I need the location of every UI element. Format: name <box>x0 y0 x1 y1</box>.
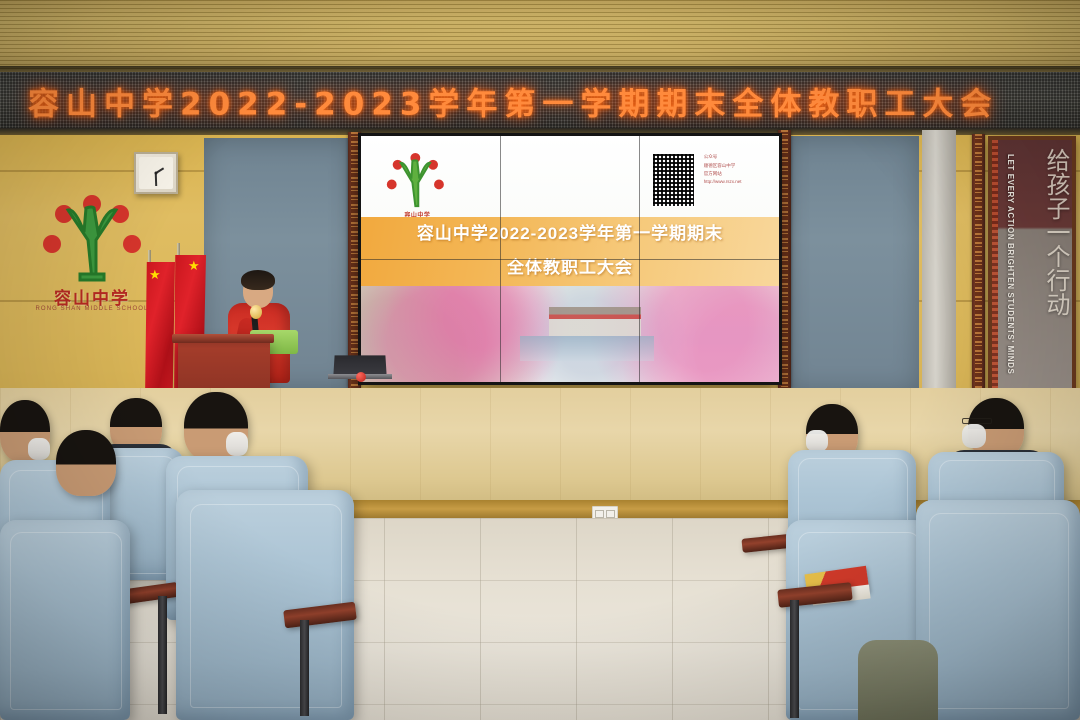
qr-caption: 公众号 顺德区容山中学 官方网站 http://www.rszx.net <box>704 153 763 186</box>
red-ball-object <box>356 372 366 382</box>
glasses-icon <box>962 418 992 424</box>
qr-code-icon <box>652 153 696 207</box>
flag-star-icon: ★ <box>188 259 200 272</box>
flag-star-icon: ★ <box>149 268 161 281</box>
ceiling-slats <box>0 0 1080 72</box>
screen-school-logo-icon <box>384 151 447 210</box>
seat-leg <box>790 600 799 718</box>
acoustic-panel-right <box>784 136 919 392</box>
screen-title-band: 容山中学2022-2023学年第一学期期末 全体教职工大会 <box>361 217 779 286</box>
auditorium-seat[interactable] <box>916 500 1080 720</box>
screen-campus-photo <box>361 286 779 382</box>
calligraphy-chinese: 给孩子一个行动 <box>1043 148 1068 404</box>
videowall-seam <box>361 259 779 260</box>
face-mask <box>962 424 986 448</box>
qr-caption-line: 公众号 <box>704 153 763 161</box>
school-tree-icon <box>28 188 156 288</box>
decorative-trim-right <box>972 134 985 412</box>
attendee-leg <box>858 640 938 720</box>
calligraphy-scroll: 给孩子一个行动 LET EVERY ACTION BRIGHTEN STUDEN… <box>988 136 1076 416</box>
scroll-border-pattern <box>992 140 998 412</box>
podium-top <box>172 334 274 343</box>
qr-caption-line: 顺德区容山中学 <box>704 162 763 170</box>
calligraphy-english: LET EVERY ACTION BRIGHTEN STUDENTS' MIND… <box>999 154 1015 394</box>
face-mask <box>28 438 50 460</box>
microphone-icon <box>250 305 262 319</box>
qr-caption-line: 官方网站 <box>704 170 763 178</box>
seat-leg <box>158 596 167 714</box>
screen-title-line1: 容山中学2022-2023学年第一学期期末 <box>361 223 779 246</box>
speaker-hair <box>241 270 275 290</box>
face-mask <box>226 432 248 456</box>
clock-center <box>155 172 158 175</box>
led-banner: 容山中学2022-2023学年第一学期期末全体教职工大会 <box>0 72 1080 130</box>
chinese-flag: ★ <box>145 262 175 400</box>
clock-minute-hand <box>155 173 157 186</box>
projection-screen: 容山中学 公众号 顺德区容山中学 官方网站 http://www.rszx.ne… <box>361 136 779 382</box>
campus-building <box>549 307 641 336</box>
campus-lake <box>520 336 654 361</box>
projection-screen-frame: 容山中学 公众号 顺德区容山中学 官方网站 http://www.rszx.ne… <box>358 133 782 385</box>
wall-clock-icon <box>134 152 178 194</box>
qr-caption-line: http://www.rszx.net <box>704 178 763 186</box>
clock-face <box>139 157 173 189</box>
seat-leg <box>300 620 309 716</box>
screen-title-line2: 全体教职工大会 <box>361 253 779 278</box>
auditorium-seat[interactable] <box>0 520 130 720</box>
school-emblem: 容山中学 RONG SHAN MIDDLE SCHOOL <box>28 188 156 326</box>
led-banner-text: 容山中学2022-2023学年第一学期期末全体教职工大会 <box>28 79 998 124</box>
emblem-name-en: RONG SHAN MIDDLE SCHOOL <box>28 306 156 312</box>
wall-pillar <box>922 130 956 430</box>
auditorium-photo-scene: 容山中学2022-2023学年第一学期期末全体教职工大会 容山中学 RONG S… <box>0 0 1080 720</box>
face-mask <box>806 430 828 452</box>
attendee-head <box>56 430 116 496</box>
